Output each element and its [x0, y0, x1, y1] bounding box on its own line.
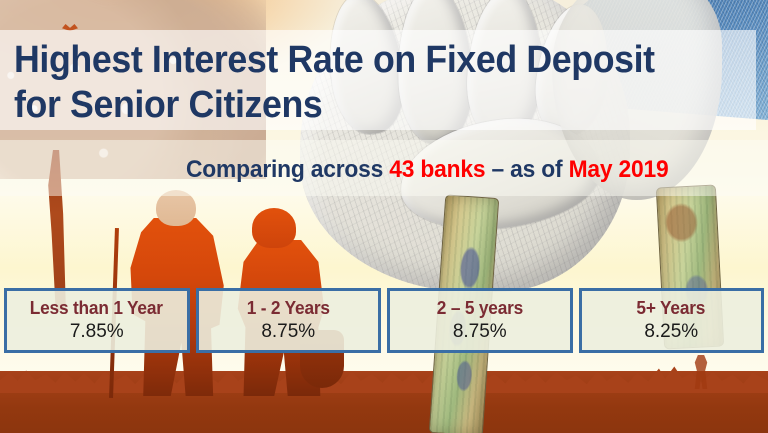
rate-cell-header: 5+ Years: [637, 298, 706, 319]
ground-earth: [0, 371, 768, 433]
rate-cell-2-5-years[interactable]: 2 – 5 years 8.75%: [387, 288, 573, 353]
rate-cell-1-2-years[interactable]: 1 - 2 Years 8.75%: [196, 288, 382, 353]
elderly-woman-head: [252, 208, 296, 248]
subtitle-date: May 2019: [569, 156, 669, 183]
page-title: Highest Interest Rate on Fixed Deposit f…: [14, 38, 717, 128]
rate-cell-value: 8.75%: [261, 320, 315, 343]
rate-cell-less-than-1-year[interactable]: Less than 1 Year 7.85%: [4, 288, 190, 353]
rate-cell-header: Less than 1 Year: [30, 298, 163, 319]
rate-cell-header: 1 - 2 Years: [247, 298, 330, 319]
rate-cell-value: 8.25%: [644, 320, 698, 343]
subtitle-dash: – as of: [485, 156, 568, 183]
rate-table: Less than 1 Year 7.85% 1 - 2 Years 8.75%…: [4, 288, 764, 353]
subtitle-bank-count: 43 banks: [389, 156, 485, 183]
rate-cell-value: 7.85%: [70, 320, 124, 343]
poster-infographic: Highest Interest Rate on Fixed Deposit f…: [0, 0, 768, 433]
grass-silhouette: [0, 359, 768, 393]
rate-cell-header: 2 – 5 years: [437, 298, 523, 319]
distant-figure-silhouette: [688, 355, 714, 389]
subtitle: Comparing across 43 banks – as of May 20…: [186, 156, 739, 184]
rate-cell-5-plus-years[interactable]: 5+ Years 8.25%: [579, 288, 765, 353]
rate-cell-value: 8.75%: [453, 320, 507, 343]
subtitle-lead: Comparing across: [186, 156, 389, 183]
